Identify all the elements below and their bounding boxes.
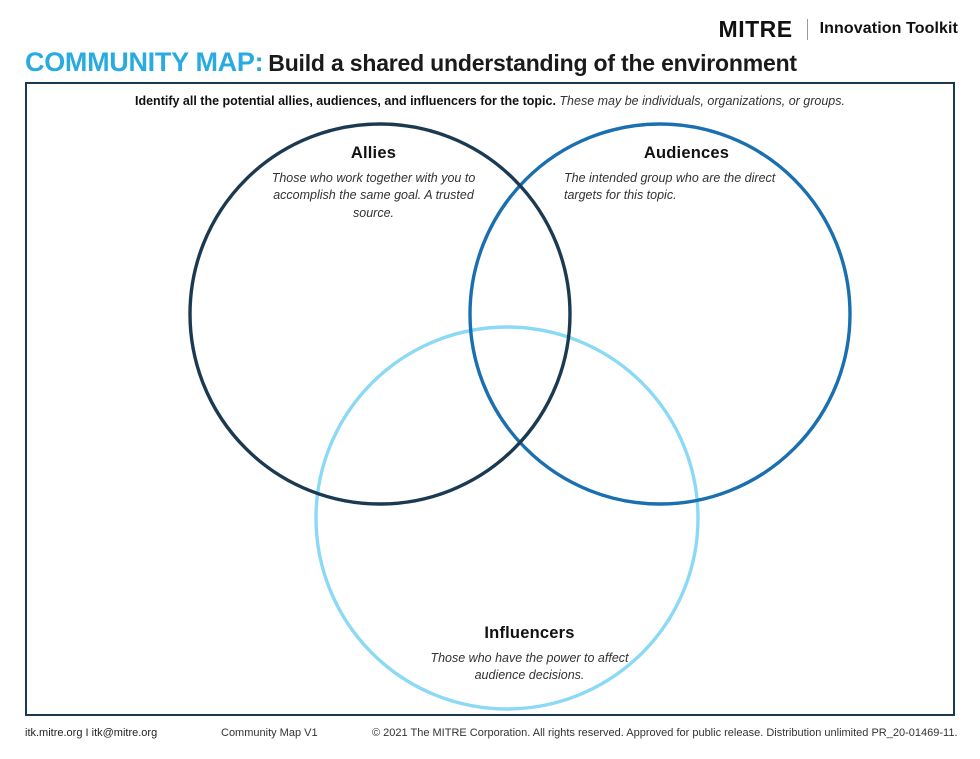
footer-contact[interactable]: itk.mitre.org I itk@mitre.org [25,727,157,739]
region-label-allies: Allies Those who work together with you … [251,144,496,222]
page-title-accent: COMMUNITY MAP: [25,47,263,77]
region-description-influencers: Those who have the power to affect audie… [407,650,652,685]
region-title-allies: Allies [251,144,496,163]
footer-copyright: © 2021 The MITRE Corporation. All rights… [372,727,958,739]
instruction-line: Identify all the potential allies, audie… [27,94,953,108]
brand-bar: MITRE Innovation Toolkit [719,16,958,42]
region-description-audiences: The intended group who are the direct ta… [564,170,809,205]
region-title-audiences: Audiences [564,144,809,163]
page-title: COMMUNITY MAP:Build a shared understandi… [25,47,797,78]
region-description-allies: Those who work together with you to acco… [251,170,496,222]
mitre-logo: MITRE [719,18,793,41]
region-label-audiences: Audiences The intended group who are the… [564,144,809,205]
page-title-subtitle: Build a shared understanding of the envi… [268,50,797,76]
vertical-divider-icon [807,19,808,40]
footer-version: Community Map V1 [221,727,318,739]
product-name: Innovation Toolkit [820,21,958,37]
footer: itk.mitre.org I itk@mitre.org Community … [25,727,955,743]
worksheet-canvas[interactable]: Identify all the potential allies, audie… [25,82,955,716]
region-label-influencers: Influencers Those who have the power to … [407,624,652,685]
instruction-primary: Identify all the potential allies, audie… [135,94,556,108]
instruction-secondary: These may be individuals, organizations,… [559,94,845,108]
region-title-influencers: Influencers [407,624,652,643]
